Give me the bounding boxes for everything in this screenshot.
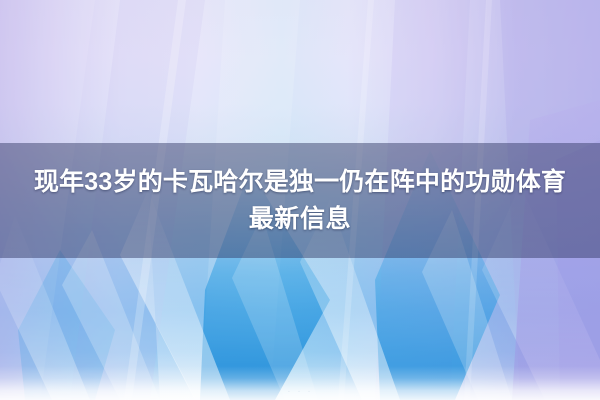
watermark-text: · · · xyxy=(0,386,600,397)
caption-line-1: 现年33岁的卡瓦哈尔是独一仍在阵中的功勋体育 xyxy=(34,164,566,201)
caption-overlay-band: 现年33岁的卡瓦哈尔是独一仍在阵中的功勋体育 最新信息 xyxy=(0,143,600,258)
promo-banner: · · · 现年33岁的卡瓦哈尔是独一仍在阵中的功勋体育 最新信息 xyxy=(0,0,600,400)
caption-line-2: 最新信息 xyxy=(249,201,351,238)
